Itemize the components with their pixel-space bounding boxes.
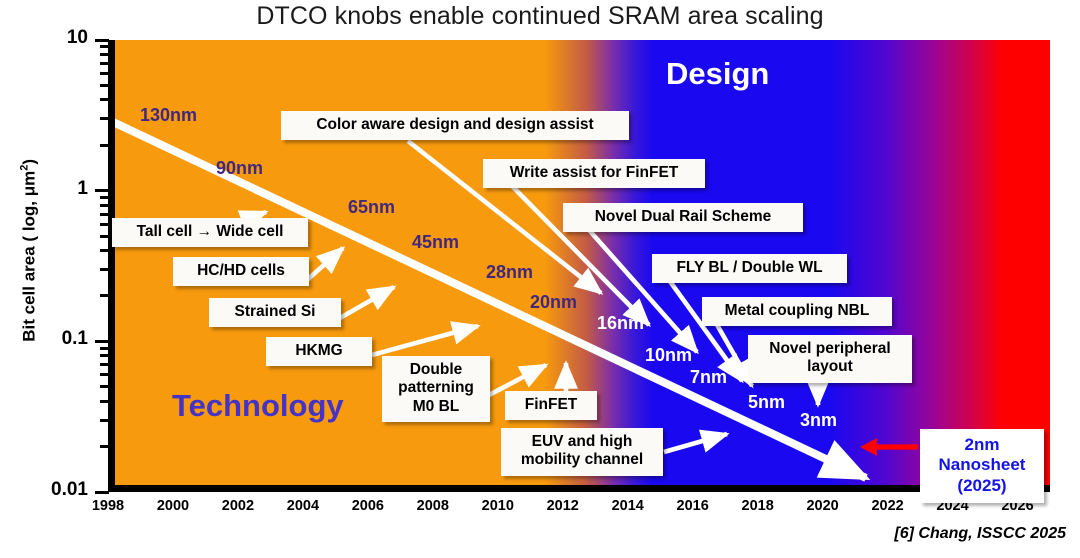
node-label-130nm: 130nm: [140, 105, 197, 126]
y-axis-tick-labels: 1010.10.01: [0, 0, 102, 558]
callout-color-aware-design: Color aware design and design assist: [281, 111, 629, 140]
x-tick-2008: 2008: [417, 498, 449, 514]
x-tick-2020: 2020: [806, 498, 838, 514]
node-label-5nm: 5nm: [748, 392, 785, 413]
x-tick-2022: 2022: [871, 498, 903, 514]
y-major-tick: [95, 39, 109, 42]
page-title: DTCO knobs enable continued SRAM area sc…: [0, 2, 1080, 31]
x-tick-2018: 2018: [742, 498, 774, 514]
y-major-tick: [95, 491, 109, 494]
node-label-45nm: 45nm: [412, 232, 459, 253]
callout-hc-hd-cells: HC/HD cells: [173, 257, 309, 286]
x-tick-2012: 2012: [547, 498, 579, 514]
x-axis-tick-labels: 1998200020022004200620082010201220142016…: [108, 498, 1050, 522]
x-tick-2016: 2016: [677, 498, 709, 514]
y-major-tick: [95, 340, 109, 343]
x-tick-2000: 2000: [157, 498, 189, 514]
callout-hkmg: HKMG: [266, 337, 372, 366]
y-tick-1: 1: [77, 178, 88, 200]
callout-double-patterning: Double patterning M0 BL: [382, 356, 490, 422]
citation: [6] Chang, ISSCC 2025: [894, 525, 1066, 543]
node-label-3nm: 3nm: [800, 410, 837, 431]
callout-strained-si: Strained Si: [209, 298, 341, 327]
node-label-16nm: 16nm: [597, 313, 644, 334]
region-label-design: Design: [666, 56, 769, 92]
node-label-90nm: 90nm: [216, 158, 263, 179]
x-tick-2004: 2004: [287, 498, 319, 514]
x-tick-2014: 2014: [612, 498, 644, 514]
node-label-20nm: 20nm: [530, 292, 577, 313]
y-axis-tick-marks: [95, 40, 109, 492]
y-tick-0-1: 0.1: [62, 328, 88, 350]
callout-fly-bl-double-wl: FLY BL / Double WL: [652, 254, 847, 283]
nanosheet-callout: 2nm Nanosheet (2025): [920, 429, 1044, 503]
y-tick-0-01: 0.01: [51, 479, 88, 501]
callout-metal-coupling-nbl: Metal coupling NBL: [702, 297, 892, 326]
region-label-technology: Technology: [172, 388, 344, 424]
node-label-28nm: 28nm: [486, 262, 533, 283]
x-tick-1998: 1998: [92, 498, 124, 514]
node-label-10nm: 10nm: [645, 345, 692, 366]
callout-novel-peripheral: Novel peripheral layout: [748, 335, 912, 383]
callout-euv-high-mobility: EUV and high mobility channel: [501, 428, 663, 476]
callout-finfet: FinFET: [505, 391, 597, 420]
y-major-tick: [95, 189, 109, 192]
node-label-65nm: 65nm: [348, 197, 395, 218]
x-tick-2002: 2002: [222, 498, 254, 514]
y-tick-10: 10: [67, 27, 88, 49]
callout-write-assist-finfet: Write assist for FinFET: [483, 159, 705, 188]
callout-novel-dual-rail: Novel Dual Rail Scheme: [563, 203, 803, 232]
x-tick-2010: 2010: [482, 498, 514, 514]
callout-tall-cell-wide-cell: Tall cell → Wide cell: [112, 218, 308, 247]
x-tick-2006: 2006: [352, 498, 384, 514]
node-label-7nm: 7nm: [690, 367, 727, 388]
